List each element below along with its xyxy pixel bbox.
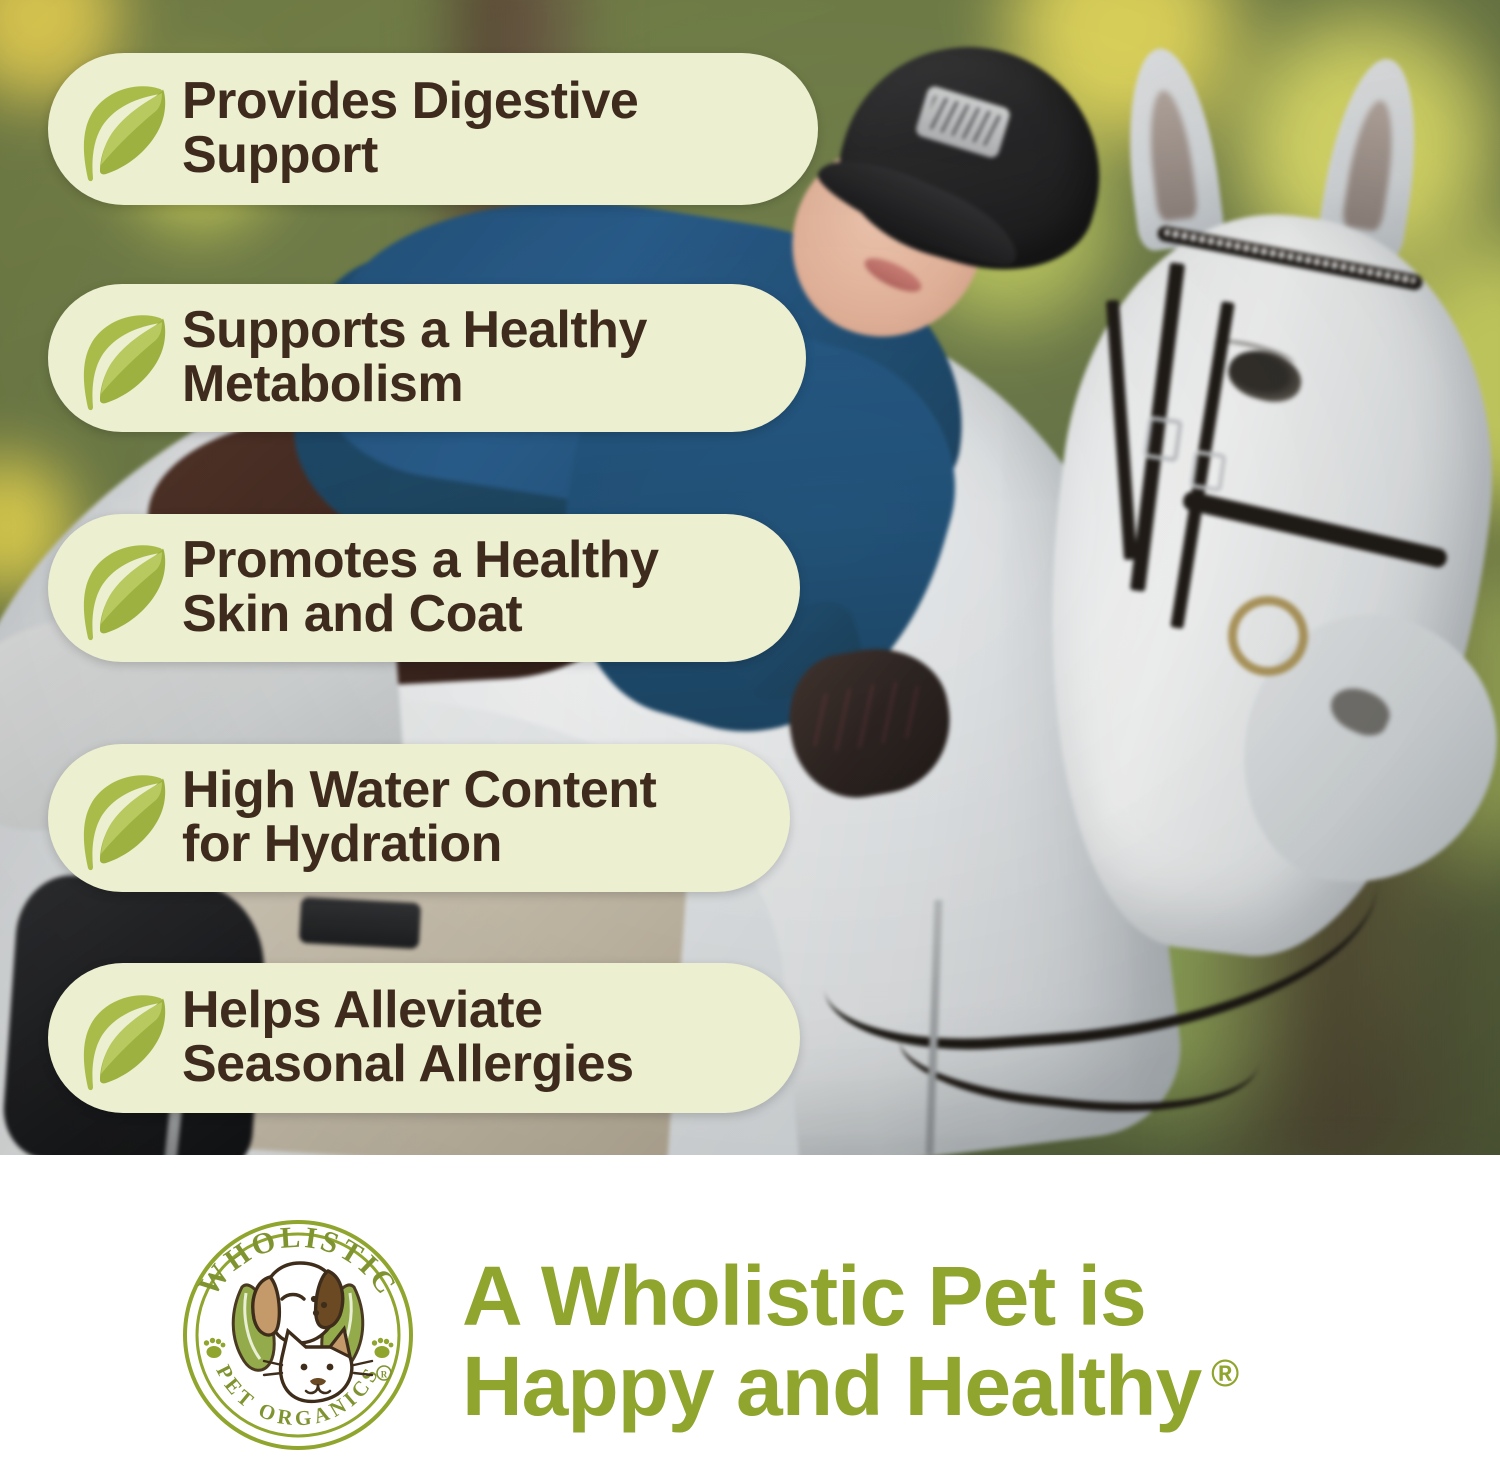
brand-tagline: A Wholistic Pet is Happy and Healthy® <box>462 1252 1362 1432</box>
benefit-pill[interactable]: Helps Alleviate Seasonal Allergies <box>48 963 800 1113</box>
benefit-label: High Water Content for Hydration <box>182 764 656 871</box>
leaf-icon <box>76 984 168 1092</box>
leaf-icon <box>76 75 168 183</box>
tagline-line-2-wrap: Happy and Healthy® <box>462 1342 1362 1432</box>
leaf-icon <box>76 304 168 412</box>
benefit-pill-list: Provides Digestive Support Supports a He… <box>0 0 1500 1155</box>
tagline-line-1: A Wholistic Pet is <box>462 1252 1362 1342</box>
registered-mark-icon: ® <box>1211 1353 1238 1395</box>
benefit-pill[interactable]: Promotes a Healthy Skin and Coat <box>48 514 800 662</box>
benefit-label: Supports a Healthy Metabolism <box>182 304 647 411</box>
benefit-label: Promotes a Healthy Skin and Coat <box>182 534 659 641</box>
svg-text:R: R <box>381 1369 388 1379</box>
brand-logo[interactable]: WHOLISTIC PET ORGANICS <box>178 1215 418 1455</box>
tagline-line-2: Happy and Healthy <box>462 1339 1201 1433</box>
benefit-pill[interactable]: High Water Content for Hydration <box>48 744 790 892</box>
benefit-pill[interactable]: Supports a Healthy Metabolism <box>48 284 806 432</box>
benefit-label: Helps Alleviate Seasonal Allergies <box>182 984 634 1091</box>
leaf-icon <box>76 764 168 872</box>
marketing-infographic: Provides Digestive Support Supports a He… <box>0 0 1500 1467</box>
leaf-icon <box>76 534 168 642</box>
benefit-pill[interactable]: Provides Digestive Support <box>48 53 818 205</box>
benefit-label: Provides Digestive Support <box>182 75 638 182</box>
